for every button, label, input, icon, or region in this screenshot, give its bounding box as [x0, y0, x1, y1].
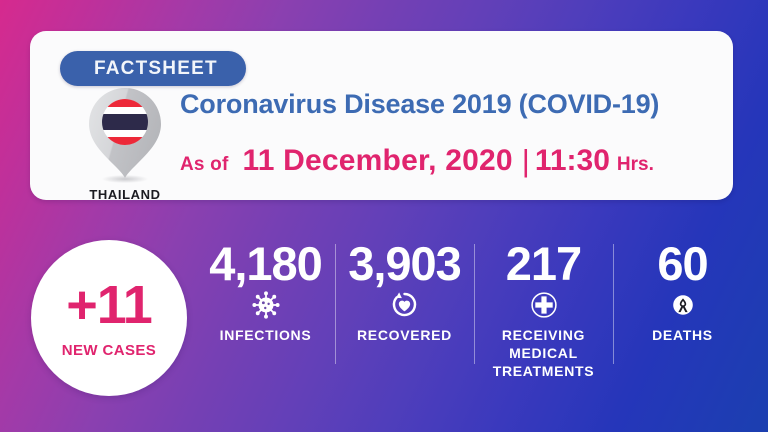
statistics-section: +11 NEW CASES 4,180: [0, 228, 768, 432]
as-of-label: As of: [180, 154, 229, 176]
thailand-flag-icon: [102, 99, 148, 145]
virus-icon-glyph: [251, 290, 281, 320]
as-of-line: As of 11 December, 2020 | 11:30 Hrs.: [180, 142, 707, 178]
stat-recovered-label: RECOVERED: [339, 327, 470, 345]
country-label: THAILAND: [82, 187, 168, 202]
stat-infections-label: INFECTIONS: [200, 327, 331, 345]
header-text-block: Coronavirus Disease 2019 (COVID-19) As o…: [180, 89, 707, 178]
stat-deaths-label: DEATHS: [617, 327, 748, 345]
as-of-separator: |: [522, 143, 530, 179]
flag-stripe-white-bottom: [102, 130, 148, 138]
stat-deaths-value: 60: [617, 240, 748, 288]
factsheet-badge: FACTSHEET: [60, 51, 246, 86]
mourning-ribbon-icon-glyph: [669, 291, 697, 319]
virus-icon: [200, 290, 331, 320]
stat-recovered-value: 3,903: [339, 240, 470, 288]
stat-columns: 4,180: [196, 240, 752, 381]
new-cases-badge: +11 NEW CASES: [31, 240, 187, 396]
page-title: Coronavirus Disease 2019 (COVID-19): [180, 89, 707, 120]
as-of-date: 11 December, 2020: [243, 144, 513, 178]
stat-infections: 4,180: [196, 240, 335, 345]
stat-receiving-medical-treatments-value: 217: [478, 240, 609, 288]
stat-infections-value: 4,180: [200, 240, 331, 288]
factsheet-badge-label: FACTSHEET: [94, 58, 218, 80]
map-pin-thailand-flag-icon: [82, 88, 168, 184]
country-pin-block: THAILAND: [82, 88, 168, 202]
stat-receiving-medical-treatments-label: RECEIVING MEDICAL TREATMENTS: [478, 327, 609, 381]
new-cases-label: NEW CASES: [62, 342, 156, 359]
medical-cross-circle-icon: [478, 290, 609, 320]
as-of-time-unit: Hrs.: [617, 154, 654, 176]
flag-stripe-navy: [102, 114, 148, 129]
heart-restore-icon: [339, 290, 470, 320]
covid-factsheet-infographic: FACTSHEET: [0, 0, 768, 432]
stat-deaths: 60 DEATHS: [613, 240, 752, 345]
flag-stripe-white-top: [102, 107, 148, 115]
header-card: FACTSHEET: [30, 31, 733, 200]
as-of-time: 11:30: [535, 144, 610, 178]
mourning-ribbon-icon: [617, 290, 748, 320]
heart-restore-icon-glyph: [390, 290, 419, 319]
stat-recovered: 3,903 RECOVERED: [335, 240, 474, 345]
medical-cross-circle-icon-glyph: [530, 291, 558, 319]
new-cases-value: +11: [66, 278, 152, 332]
stat-receiving-medical-treatments: 217 RECEIVING MEDICAL TREATMENTS: [474, 240, 613, 381]
